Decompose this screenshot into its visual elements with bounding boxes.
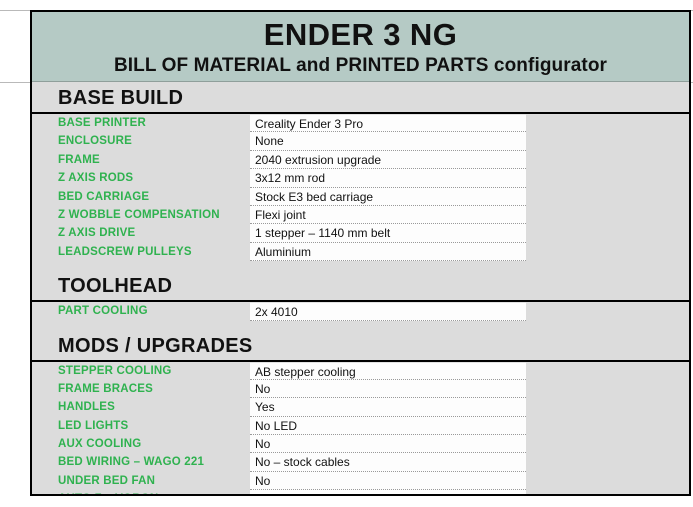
table-row: Z WOBBLE COMPENSATIONFlexi joint: [32, 206, 689, 224]
row-tail: [526, 151, 689, 169]
row-tail: [526, 380, 689, 398]
sheet-body: BASE BUILDBASE PRINTERCreality Ender 3 P…: [32, 82, 689, 496]
row-label: LED LIGHTS: [32, 417, 250, 435]
section-title: TOOLHEAD: [32, 270, 689, 302]
table-row: FRAME BRACESNo: [32, 380, 689, 398]
table-row: UNDER BED FANNo: [32, 472, 689, 490]
section-rows: PART COOLING2x 4010: [32, 302, 689, 320]
row-value-dropdown[interactable]: 2x 4010: [250, 302, 526, 320]
row-label: AUX COOLING: [32, 435, 250, 453]
row-tail: [526, 362, 689, 380]
row-tail: [526, 224, 689, 242]
section-rows: BASE PRINTERCreality Ender 3 ProENCLOSUR…: [32, 114, 689, 261]
row-value-dropdown[interactable]: None: [250, 132, 526, 150]
row-tail: [526, 472, 689, 490]
row-value-dropdown[interactable]: Stock E3 bed carriage: [250, 188, 526, 206]
row-tail: [526, 435, 689, 453]
section-title: BASE BUILD: [32, 82, 689, 114]
row-tail: [526, 169, 689, 187]
table-row: Z AXIS RODS3x12 mm rod: [32, 169, 689, 187]
row-tail: [526, 206, 689, 224]
row-tail: [526, 132, 689, 150]
table-row: BASE PRINTERCreality Ender 3 Pro: [32, 114, 689, 132]
row-label: HANDLES: [32, 398, 250, 416]
row-tail: [526, 398, 689, 416]
row-label: UNDER BED FAN: [32, 472, 250, 490]
row-tail: [526, 490, 689, 496]
row-label: Z AXIS RODS: [32, 169, 250, 187]
row-value-dropdown[interactable]: 2040 extrusion upgrade: [250, 151, 526, 169]
table-row: AUX COOLINGNo: [32, 435, 689, 453]
row-label: Z WOBBLE COMPENSATION: [32, 206, 250, 224]
row-value-dropdown[interactable]: Aluminium: [250, 243, 526, 261]
table-row: BED WIRING – WAGO 221No – stock cables: [32, 453, 689, 471]
row-value-dropdown[interactable]: No LED: [250, 417, 526, 435]
row-value-dropdown[interactable]: Flexi joint: [250, 206, 526, 224]
table-row: STEPPER COOLINGAB stepper cooling: [32, 362, 689, 380]
row-label: ENCLOSURE: [32, 132, 250, 150]
title-band: ENDER 3 NG BILL OF MATERIAL and PRINTED …: [32, 12, 689, 82]
sections-host: BASE BUILDBASE PRINTERCreality Ender 3 P…: [32, 82, 689, 496]
page-subtitle: BILL OF MATERIAL and PRINTED PARTS confi…: [32, 53, 689, 77]
section-spacer: [32, 261, 689, 270]
table-row: Z AXIS DRIVE1 stepper – 1140 mm belt: [32, 224, 689, 242]
row-label: Z AXIS DRIVE: [32, 224, 250, 242]
row-value-dropdown[interactable]: No: [250, 380, 526, 398]
row-value-dropdown[interactable]: 3x12 mm rod: [250, 169, 526, 187]
table-row: FRAME2040 extrusion upgrade: [32, 151, 689, 169]
row-value-dropdown[interactable]: No – stock cables: [250, 453, 526, 471]
row-value-dropdown[interactable]: 1 stepper – 1140 mm belt: [250, 224, 526, 242]
row-tail: [526, 243, 689, 261]
section-mods-upgrades: MODS / UPGRADESSTEPPER COOLINGAB stepper…: [32, 330, 689, 496]
table-row: AUTO Z – VORONNo: [32, 490, 689, 496]
row-label: AUTO Z – VORON: [32, 490, 250, 496]
row-value-dropdown[interactable]: Yes: [250, 398, 526, 416]
table-row: LED LIGHTSNo LED: [32, 417, 689, 435]
row-tail: [526, 188, 689, 206]
row-value-dropdown[interactable]: No: [250, 490, 526, 496]
row-tail: [526, 302, 689, 320]
configurator-sheet: ENDER 3 NG BILL OF MATERIAL and PRINTED …: [30, 10, 691, 496]
table-row: BED CARRIAGEStock E3 bed carriage: [32, 188, 689, 206]
section-rows: STEPPER COOLINGAB stepper coolingFRAME B…: [32, 362, 689, 496]
row-label: FRAME: [32, 151, 250, 169]
section-title: MODS / UPGRADES: [32, 330, 689, 362]
section-toolhead: TOOLHEADPART COOLING2x 4010: [32, 270, 689, 320]
row-label: STEPPER COOLING: [32, 362, 250, 380]
section-spacer: [32, 321, 689, 330]
table-row: LEADSCREW PULLEYSAluminium: [32, 243, 689, 261]
row-tail: [526, 114, 689, 132]
row-label: BASE PRINTER: [32, 114, 250, 132]
row-label: BED WIRING – WAGO 221: [32, 453, 250, 471]
table-row: PART COOLING2x 4010: [32, 302, 689, 320]
row-label: BED CARRIAGE: [32, 188, 250, 206]
row-value-dropdown[interactable]: Creality Ender 3 Pro: [250, 114, 526, 132]
row-tail: [526, 417, 689, 435]
row-value-dropdown[interactable]: AB stepper cooling: [250, 362, 526, 380]
row-label: LEADSCREW PULLEYS: [32, 243, 250, 261]
row-label: FRAME BRACES: [32, 380, 250, 398]
section-base-build: BASE BUILDBASE PRINTERCreality Ender 3 P…: [32, 82, 689, 261]
row-value-dropdown[interactable]: No: [250, 472, 526, 490]
row-label: PART COOLING: [32, 302, 250, 320]
page-title: ENDER 3 NG: [32, 12, 689, 53]
row-tail: [526, 453, 689, 471]
row-value-dropdown[interactable]: No: [250, 435, 526, 453]
table-row: HANDLESYes: [32, 398, 689, 416]
table-row: ENCLOSURENone: [32, 132, 689, 150]
